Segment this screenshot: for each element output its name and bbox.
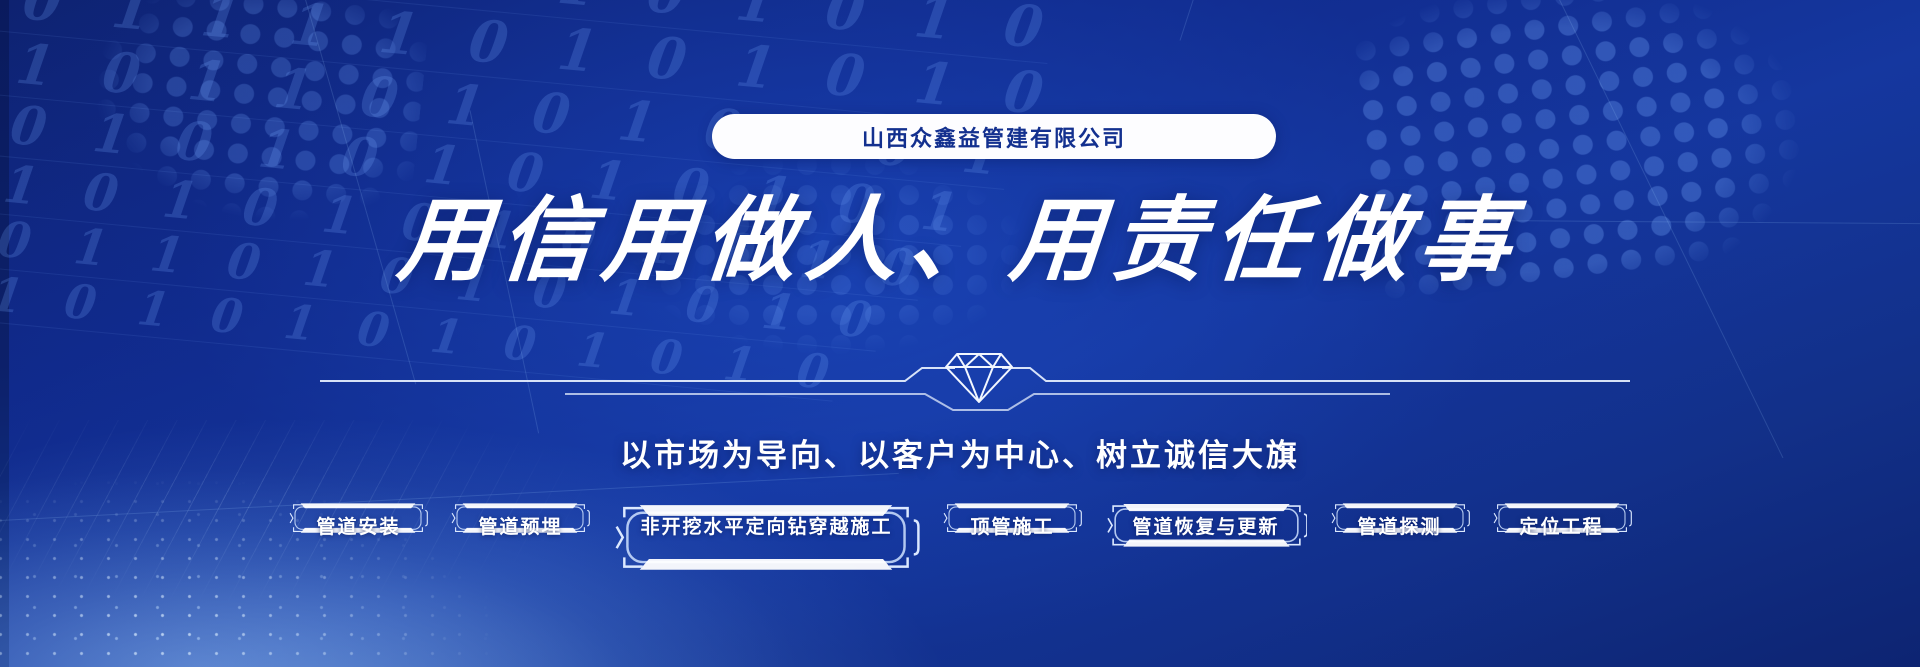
service-tag-label: 管道安装	[288, 512, 428, 539]
hero-subtitle: 以市场为导向、以客户为中心、树立诚信大旗	[0, 430, 1920, 475]
service-tag-list: 管道安装 管道预埋	[0, 502, 1920, 548]
service-tag-1[interactable]: 管道预埋	[450, 502, 590, 548]
divider-graphic	[0, 340, 1920, 420]
diamond-divider	[0, 340, 1920, 420]
service-tag-6[interactable]: 定位工程	[1492, 502, 1632, 548]
hero-headline: 用信用做人、用责任做事	[0, 166, 1920, 299]
service-tag-label: 非开挖水平定向钻穿越施工	[612, 512, 920, 539]
service-tag-3[interactable]: 顶管施工	[942, 502, 1082, 548]
banner-content: 山西众鑫益管建有限公司 用信用做人、用责任做事	[0, 0, 1920, 667]
hero-banner: 1 0 1 0 1 1 1 0 1 0 1 0 1 0 0 1 0 1 1 1 …	[0, 0, 1920, 667]
service-tag-label: 顶管施工	[942, 512, 1082, 539]
service-tag-4[interactable]: 管道恢复与更新	[1105, 502, 1308, 548]
service-tag-2[interactable]: 非开挖水平定向钻穿越施工	[612, 502, 920, 548]
service-tag-label: 管道预埋	[450, 512, 590, 539]
service-tag-label: 管道恢复与更新	[1105, 512, 1308, 539]
company-name-pill: 山西众鑫益管建有限公司	[712, 114, 1276, 159]
service-tag-5[interactable]: 管道探测	[1330, 502, 1470, 548]
diamond-icon	[946, 354, 1012, 402]
service-tag-0[interactable]: 管道安装	[288, 502, 428, 548]
service-tag-label: 定位工程	[1492, 512, 1632, 539]
company-name-text: 山西众鑫益管建有限公司	[862, 121, 1126, 153]
service-tag-label: 管道探测	[1330, 512, 1470, 539]
